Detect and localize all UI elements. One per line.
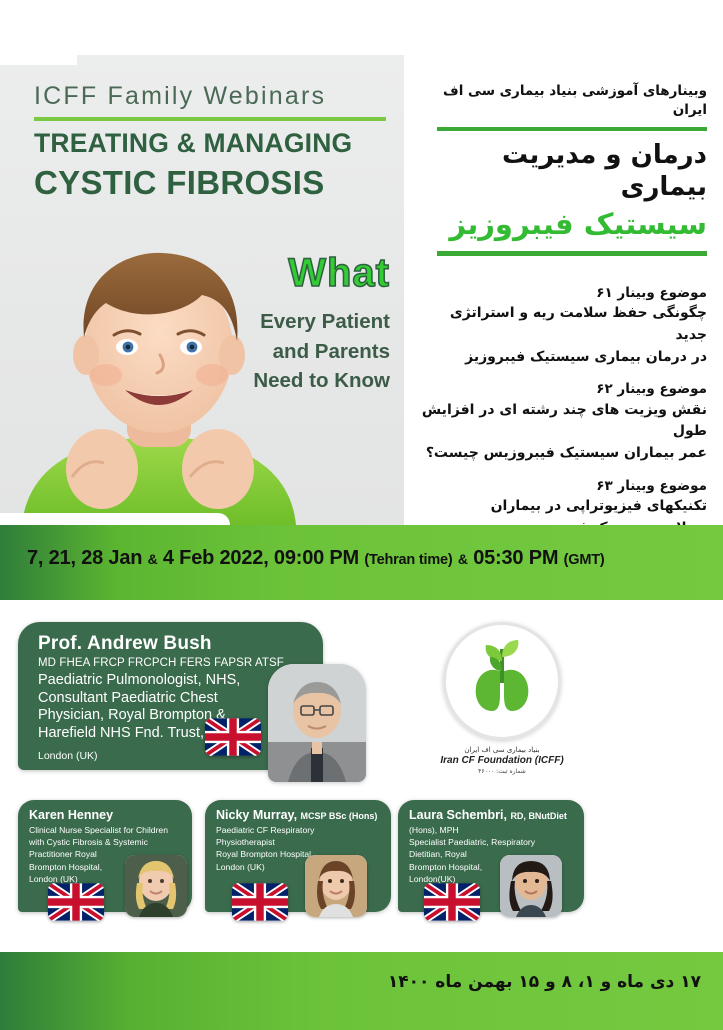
- uk-flag-icon: [232, 883, 288, 921]
- what-sub-line-3: Need to Know: [190, 366, 390, 396]
- top-panel: ICFF Family Webinars TREATING & MANAGING…: [0, 55, 723, 525]
- speaker-role-line: Clinical Nurse Specialist for Children: [29, 824, 183, 836]
- timezone-gmt: (GMT): [564, 552, 605, 568]
- panel-bottom-notch: [0, 513, 230, 525]
- logo-circle: [443, 622, 561, 740]
- icff-logo: بنیاد بیماری سی اف ایران Iran CF Foundat…: [428, 622, 576, 792]
- headline-line-1: ICFF Family Webinars: [34, 82, 394, 111]
- logo-registration-number: شماره ثبت: ۴۶۰۰۰: [428, 768, 576, 775]
- topic-line: در درمان بیماری سیستیک فیبروزیز: [417, 347, 707, 369]
- speaker-name-text: Laura Schembri,: [409, 808, 507, 822]
- speaker-role-line: Specialist Paediatric, Respiratory: [409, 836, 575, 848]
- uk-flag-icon: [48, 883, 104, 921]
- speaker-name: Nicky Murray, MCSP BSc (Hons): [216, 808, 382, 822]
- what-sub-line-1: Every Patient: [190, 307, 390, 337]
- topic-line: تکنیکهای فیزیوتراپی در بیماران: [417, 496, 707, 518]
- date-ampersand-2: &: [458, 551, 468, 567]
- speaker-role-line: Physiotherapist: [216, 836, 382, 848]
- uk-flag-icon: [424, 883, 480, 921]
- topic-heading: موضوع وبینار ۶۲: [417, 379, 707, 399]
- headline-block: ICFF Family Webinars TREATING & MANAGING…: [34, 82, 394, 202]
- speaker-role-line: with Cystic Fibrosis & Systemic: [29, 836, 183, 848]
- persian-divider-bottom: [437, 251, 707, 256]
- persian-kicker: وبینارهای آموزشی بنیاد بیماری سی اف ایرا…: [422, 82, 707, 120]
- headline-line-2: TREATING & MANAGING: [34, 128, 394, 159]
- speaker-name: Laura Schembri, RD, BNutDiet: [409, 808, 575, 822]
- date-ampersand-1: &: [148, 551, 158, 567]
- topic-line: عمر بیماران سیستیک فیبروزیس چیست؟: [417, 443, 707, 465]
- persian-header-block: وبینارهای آموزشی بنیاد بیماری سی اف ایرا…: [422, 82, 707, 256]
- bottom-banner: ۱۷ دی ماه و ۱، ۸ و ۱۵ بهمن ماه ۱۴۰۰: [0, 952, 723, 1030]
- headline-divider: [34, 117, 386, 121]
- headline-line-3: CYSTIC FIBROSIS: [34, 164, 394, 202]
- speaker-name: Karen Henney: [29, 808, 183, 822]
- speaker-role-line: (Hons), MPH: [409, 824, 575, 836]
- speaker-name: Prof. Andrew Bush: [38, 633, 309, 655]
- uk-flag-icon: [205, 718, 261, 756]
- speaker-name-text: Nicky Murray,: [216, 808, 297, 822]
- topic-line: چگونگی حفظ سلامت ریه و استراتژی جدید: [417, 303, 707, 346]
- topic-item: موضوع وبینار ۶۱ چگونگی حفظ سلامت ریه و ا…: [417, 283, 707, 368]
- top-left-panel: ICFF Family Webinars TREATING & MANAGING…: [0, 55, 404, 525]
- speaker-photo-1: [125, 855, 187, 917]
- time-gmt: 05:30 PM: [473, 547, 558, 569]
- speaker-photo-2: [305, 855, 367, 917]
- what-block: What Every Patient and Parents Need to K…: [190, 253, 390, 396]
- corner-notch: [0, 55, 77, 65]
- speaker-credentials: MCSP BSc (Hons): [301, 811, 378, 821]
- persian-title-1: درمان و مدیریت بیماری: [422, 139, 707, 204]
- poster-root: ICFF Family Webinars TREATING & MANAGING…: [0, 0, 723, 1030]
- speaker-credentials: MD FHEA FRCP FRCPCH FERS FAPSR ATSF: [38, 657, 309, 669]
- persian-title-2: سیستیک فیبروزیز: [422, 206, 707, 242]
- persian-date-text: ۱۷ دی ماه و ۱، ۸ و ۱۵ بهمن ماه ۱۴۰۰: [388, 972, 701, 992]
- speakers-section: Prof. Andrew Bush MD FHEA FRCP FRCPCH FE…: [0, 600, 723, 952]
- timezone-tehran: (Tehran time): [364, 552, 452, 568]
- persian-column: وبینارهای آموزشی بنیاد بیماری سی اف ایرا…: [404, 55, 723, 525]
- what-heading: What: [190, 253, 390, 293]
- topic-heading: موضوع وبینار ۶۳: [417, 476, 707, 496]
- topic-item: موضوع وبینار ۶۲ نقش ویزیت های چند رشته ا…: [417, 379, 707, 464]
- speaker-photo-3: [500, 855, 562, 917]
- date-part-2: 4 Feb 2022, 09:00 PM: [163, 547, 359, 569]
- logo-english-text: Iran CF Foundation (ICFF): [428, 755, 576, 766]
- logo-persian-text: بنیاد بیماری سی اف ایران: [428, 746, 576, 754]
- date-part-1: 7, 21, 28 Jan: [27, 547, 142, 569]
- what-sub-line-2: and Parents: [190, 337, 390, 367]
- date-banner: 7, 21, 28 Jan & 4 Feb 2022, 09:00 PM (Te…: [0, 525, 723, 600]
- topic-line: نقش ویزیت های چند رشته ای در افزایش طول: [417, 400, 707, 443]
- speaker-role-line: Paediatric CF Respiratory: [216, 824, 382, 836]
- speaker-credentials: RD, BNutDiet: [510, 811, 567, 821]
- persian-divider-top: [437, 127, 707, 131]
- date-text-line: 7, 21, 28 Jan & 4 Feb 2022, 09:00 PM (Te…: [27, 547, 605, 570]
- speaker-photo-main: [268, 664, 366, 782]
- topic-heading: موضوع وبینار ۶۱: [417, 283, 707, 303]
